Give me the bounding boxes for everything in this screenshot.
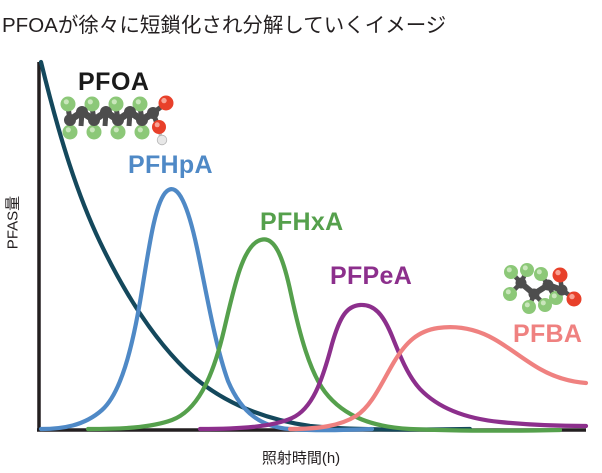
pfba-molecule-icon — [503, 263, 582, 314]
figure-root: PFOAが徐々に短鎖化され分解していくイメージ — [0, 0, 602, 473]
y-axis-title: PFAS量 — [2, 193, 23, 253]
series-label-pfhpa: PFHpA — [128, 153, 213, 178]
series-label-pfba: PFBA — [513, 322, 582, 347]
series-label-pfpea: PFPeA — [330, 264, 412, 289]
pfoa-molecule-icon — [61, 96, 174, 145]
series-label-pfhxa: PFHxA — [260, 210, 343, 235]
x-axis-title: 照射時間(h) — [0, 447, 602, 468]
series-label-pfoa: PFOA — [78, 70, 149, 95]
